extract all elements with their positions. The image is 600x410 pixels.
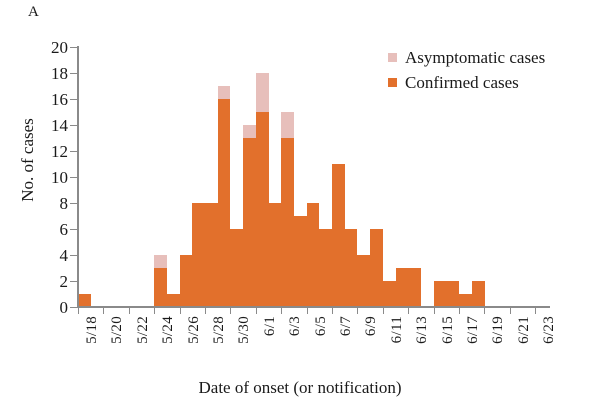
bar-segment-confirmed xyxy=(434,281,447,307)
x-tick-label: 5/22 xyxy=(135,316,152,344)
bar-segment-confirmed xyxy=(383,281,396,307)
y-tick-label: 4 xyxy=(34,247,68,264)
bar-5-26 xyxy=(180,47,193,307)
bar-segment-confirmed xyxy=(230,229,243,307)
x-axis-line xyxy=(78,306,550,308)
x-tick-mark xyxy=(484,307,485,314)
bar-5-23 xyxy=(142,47,155,307)
bar-segment-asymptomatic xyxy=(154,255,167,268)
legend-item[interactable]: Confirmed cases xyxy=(388,74,545,91)
legend-item[interactable]: Asymptomatic cases xyxy=(388,49,545,66)
bar-6-4 xyxy=(294,47,307,307)
bar-5-21 xyxy=(116,47,129,307)
bar-5-28 xyxy=(205,47,218,307)
bar-5-25 xyxy=(167,47,180,307)
bar-segment-confirmed xyxy=(319,229,332,307)
y-tick-mark xyxy=(70,229,77,230)
x-tick-label: 6/19 xyxy=(490,316,507,344)
bar-6-9 xyxy=(357,47,370,307)
bar-segment-confirmed xyxy=(154,268,167,307)
x-tick-label: 6/5 xyxy=(313,316,330,336)
bar-segment-confirmed xyxy=(180,255,193,307)
bar-5-20 xyxy=(103,47,116,307)
y-tick-label: 10 xyxy=(34,169,68,186)
x-tick-mark xyxy=(230,307,231,314)
x-tick-mark xyxy=(510,307,511,314)
x-tick-label: 5/24 xyxy=(160,316,177,344)
x-tick-mark xyxy=(307,307,308,314)
y-tick-mark xyxy=(70,255,77,256)
y-tick-label: 18 xyxy=(34,65,68,82)
y-tick-mark xyxy=(70,177,77,178)
y-tick-mark xyxy=(70,99,77,100)
x-tick-label: 6/17 xyxy=(465,316,482,344)
bar-segment-confirmed xyxy=(472,281,485,307)
bar-segment-confirmed xyxy=(345,229,358,307)
bar-segment-confirmed xyxy=(357,255,370,307)
bar-5-22 xyxy=(129,47,142,307)
bar-6-3 xyxy=(281,47,294,307)
bar-6-5 xyxy=(307,47,320,307)
x-tick-mark xyxy=(459,307,460,314)
y-tick-mark xyxy=(70,281,77,282)
legend-swatch-icon xyxy=(388,53,397,62)
x-tick-mark xyxy=(434,307,435,314)
epidemic-curve-chart: 02468101214161820 5/185/205/225/245/265/… xyxy=(0,0,600,410)
bar-segment-asymptomatic xyxy=(256,73,269,112)
x-tick-label: 6/11 xyxy=(389,316,406,343)
x-tick-label: 5/30 xyxy=(236,316,253,344)
x-tick-label: 6/21 xyxy=(516,316,533,344)
x-tick-label: 6/1 xyxy=(262,316,279,336)
bar-6-7 xyxy=(332,47,345,307)
legend-swatch-icon xyxy=(388,78,397,87)
x-tick-mark xyxy=(281,307,282,314)
x-tick-mark xyxy=(408,307,409,314)
x-tick-label: 6/3 xyxy=(287,316,304,336)
x-tick-label: 6/15 xyxy=(440,316,457,344)
bar-segment-confirmed xyxy=(281,138,294,307)
bar-6-1 xyxy=(256,47,269,307)
bar-segment-confirmed xyxy=(408,268,421,307)
y-tick-label: 2 xyxy=(34,273,68,290)
bar-segment-confirmed xyxy=(269,203,282,307)
bar-5-27 xyxy=(192,47,205,307)
legend-label: Confirmed cases xyxy=(405,74,519,91)
bar-6-2 xyxy=(269,47,282,307)
x-tick-mark xyxy=(383,307,384,314)
x-tick-label: 6/13 xyxy=(414,316,431,344)
x-tick-mark xyxy=(256,307,257,314)
bar-segment-asymptomatic xyxy=(281,112,294,138)
bar-segment-confirmed xyxy=(446,281,459,307)
bar-segment-confirmed xyxy=(243,138,256,307)
y-tick-label: 0 xyxy=(34,299,68,316)
x-tick-mark xyxy=(180,307,181,314)
x-tick-label: 5/20 xyxy=(109,316,126,344)
y-tick-label: 12 xyxy=(34,143,68,160)
bar-segment-confirmed xyxy=(205,203,218,307)
bar-segment-asymptomatic xyxy=(243,125,256,138)
x-tick-label: 5/26 xyxy=(186,316,203,344)
bar-5-18 xyxy=(78,47,91,307)
x-tick-label: 6/23 xyxy=(541,316,558,344)
bar-segment-confirmed xyxy=(256,112,269,307)
bar-6-10 xyxy=(370,47,383,307)
bar-6-8 xyxy=(345,47,358,307)
bar-5-29 xyxy=(218,47,231,307)
bar-5-24 xyxy=(154,47,167,307)
bar-segment-asymptomatic xyxy=(218,86,231,99)
bar-segment-confirmed xyxy=(294,216,307,307)
y-tick-label: 6 xyxy=(34,221,68,238)
x-tick-mark xyxy=(357,307,358,314)
x-tick-mark xyxy=(332,307,333,314)
y-tick-mark xyxy=(70,47,77,48)
x-tick-label: 5/18 xyxy=(84,316,101,344)
legend-label: Asymptomatic cases xyxy=(405,49,545,66)
bar-segment-confirmed xyxy=(218,99,231,307)
bar-segment-confirmed xyxy=(307,203,320,307)
x-tick-label: 6/7 xyxy=(338,316,355,336)
bar-segment-confirmed xyxy=(192,203,205,307)
x-tick-mark xyxy=(205,307,206,314)
bar-segment-confirmed xyxy=(396,268,409,307)
y-tick-mark xyxy=(70,307,77,308)
x-tick-mark xyxy=(129,307,130,314)
x-tick-label: 6/9 xyxy=(363,316,380,336)
y-tick-mark xyxy=(70,125,77,126)
x-tick-mark xyxy=(78,307,79,314)
y-tick-mark xyxy=(70,151,77,152)
x-tick-mark xyxy=(154,307,155,314)
y-tick-mark xyxy=(70,73,77,74)
x-tick-label: 5/28 xyxy=(211,316,228,344)
y-axis-title: No. of cases xyxy=(18,95,38,225)
y-axis-line xyxy=(77,46,79,308)
y-tick-label: 14 xyxy=(34,117,68,134)
x-tick-mark xyxy=(535,307,536,314)
bar-5-19 xyxy=(91,47,104,307)
y-tick-label: 20 xyxy=(34,39,68,56)
y-tick-mark xyxy=(70,203,77,204)
x-tick-mark xyxy=(103,307,104,314)
y-tick-label: 8 xyxy=(34,195,68,212)
bar-5-31 xyxy=(243,47,256,307)
chart-legend: Asymptomatic casesConfirmed cases xyxy=(388,49,545,99)
bar-segment-confirmed xyxy=(332,164,345,307)
bar-segment-confirmed xyxy=(370,229,383,307)
bar-5-30 xyxy=(230,47,243,307)
y-tick-label: 16 xyxy=(34,91,68,108)
x-axis-title: Date of onset (or notification) xyxy=(0,378,600,398)
bar-6-6 xyxy=(319,47,332,307)
